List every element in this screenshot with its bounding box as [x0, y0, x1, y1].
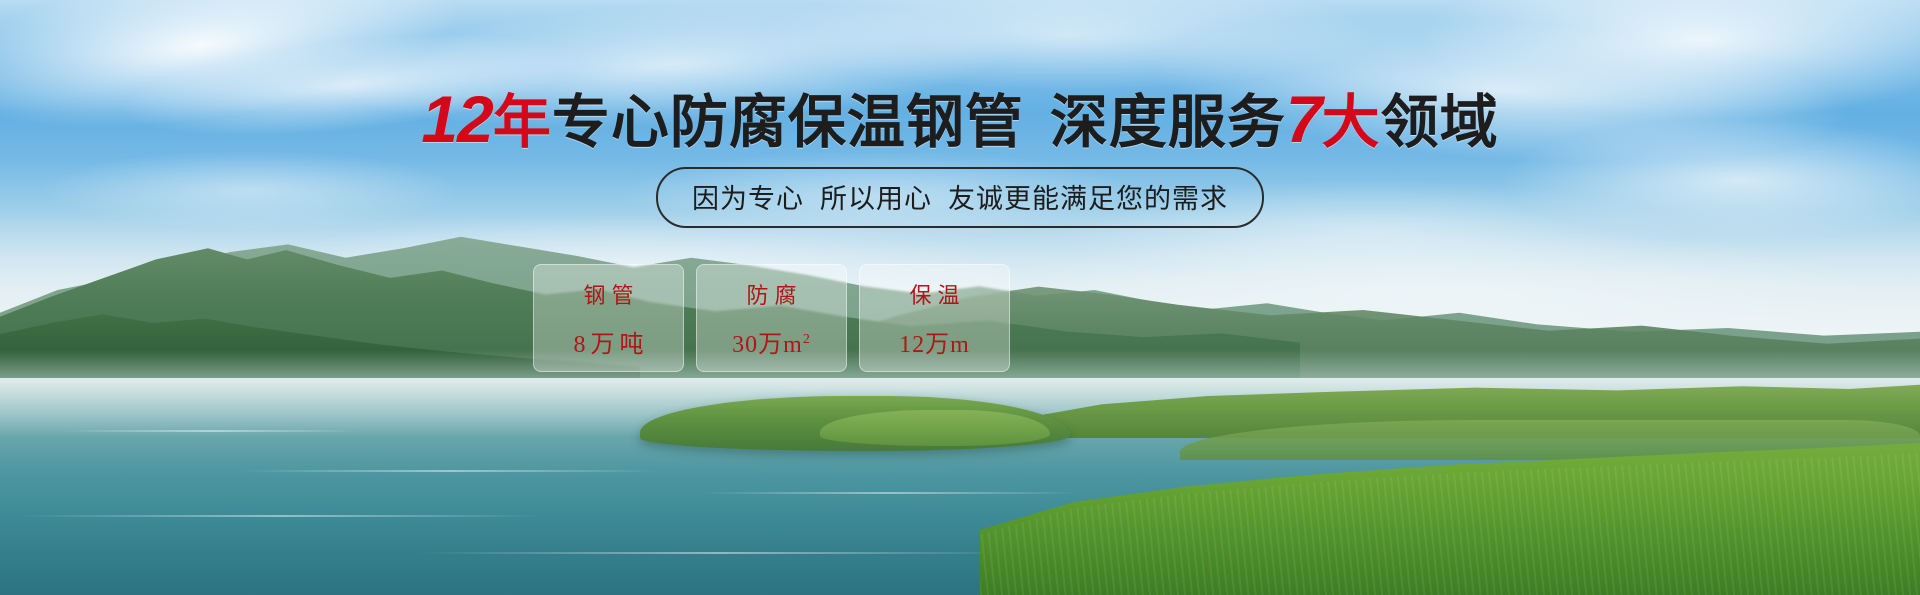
stat-card-group: 钢管 8万吨 防腐 30万m2 保温 12万m: [533, 264, 1010, 372]
water-ripple: [700, 492, 1080, 494]
hero-banner: 12年专心防腐保温钢管深度服务7大领域 因为专心所以用心友诚更能满足您的需求 钢…: [0, 0, 1920, 595]
water-ripple: [240, 470, 660, 472]
subtitle-part-3: 友诚更能满足您的需求: [948, 184, 1228, 214]
stat-card-value-text: 8万吨: [574, 332, 649, 358]
water-ripple: [20, 515, 540, 517]
stat-card-steel-pipe[interactable]: 钢管 8万吨: [533, 264, 684, 372]
headline-second-text: 深度服务: [1050, 90, 1286, 155]
headline-years-unit: 年: [493, 90, 552, 155]
stat-card-value-superscript: 2: [803, 332, 811, 347]
stat-card-insulation[interactable]: 保温 12万m: [859, 264, 1010, 372]
headline-main-text: 专心防腐保温钢管: [552, 90, 1024, 155]
banner-subtitle: 因为专心所以用心友诚更能满足您的需求: [656, 167, 1264, 228]
headline-fields-unit: 大: [1322, 90, 1381, 155]
stat-card-anticorrosion[interactable]: 防腐 30万m2: [696, 264, 847, 372]
stat-card-label: 防腐: [740, 278, 802, 310]
stat-card-value: 30万m2: [732, 324, 811, 359]
grass-island-secondary: [820, 410, 1050, 446]
stat-card-value-text: 30万m: [732, 332, 803, 358]
headline-tail-text: 领域: [1381, 90, 1499, 155]
subtitle-part-2: 所以用心: [820, 184, 932, 214]
water-ripple: [60, 430, 360, 432]
water-ripple: [420, 552, 1020, 554]
stat-card-value: 12万m: [899, 324, 970, 359]
subtitle-part-1: 因为专心: [692, 184, 804, 214]
headline-fields-number: 7: [1286, 82, 1322, 156]
stat-card-label: 保温: [903, 278, 965, 310]
banner-headline: 12年专心防腐保温钢管深度服务7大领域: [0, 86, 1920, 152]
headline-years-number: 12: [421, 82, 492, 156]
stat-card-value: 8万吨: [569, 324, 649, 359]
stat-card-label: 钢管: [577, 278, 639, 310]
stat-card-value-text: 12万m: [899, 332, 970, 358]
